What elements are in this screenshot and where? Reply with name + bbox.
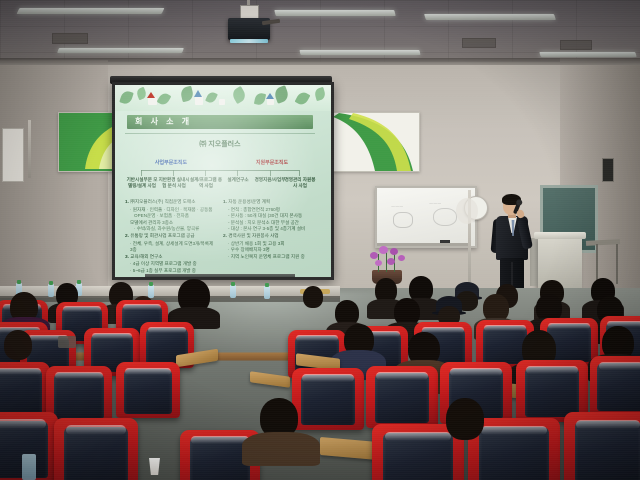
bullet-num: 1. <box>125 200 129 205</box>
org-node: 지반환경 실내시험 분석 사업 <box>157 177 191 189</box>
ceiling-light <box>274 10 395 16</box>
lectern-top <box>534 232 586 239</box>
auditorium-seat[interactable] <box>366 366 438 428</box>
bullet-num: 3. <box>125 255 129 260</box>
slide-body: ㈜ 지오플러스 사업부문조직도 지원부문조직도 기반시설부문 모델링/설계 사업… <box>125 133 315 264</box>
lecture-hall-photo: 200 우수취업 일시 2009. 수회 규전학토론 학교 환경공학과 <box>0 0 640 480</box>
orchid-flower <box>375 260 382 266</box>
audience-person <box>172 279 216 321</box>
orchid-flower <box>370 252 378 259</box>
slide-columns: 1. ㈜지오플러스(주) 직접운영 도매소 · 원자재 · 인력풀 · 디자인 … <box>125 199 315 275</box>
presenter <box>490 196 534 292</box>
auditorium-seat[interactable] <box>564 412 640 480</box>
auditorium-seat[interactable] <box>590 356 640 416</box>
slide-right-column: 1. 자동 운용성/운영 계획 - 면적 : 총합연면적 2760평 - 본사동… <box>223 199 315 275</box>
org-node: 설계/프로그램 용역 사업 <box>189 177 223 189</box>
wall-notice <box>2 128 24 182</box>
bullet-text: · 우수 장애배치자 3명 <box>223 247 315 254</box>
bullet-text: ㈜지오플러스(주) 직접운영 도매소 <box>130 199 195 204</box>
slide-house-icon <box>195 96 203 105</box>
whiteboard-scribble: ~~~ <box>391 204 403 212</box>
slide-decorative-header <box>115 85 331 111</box>
bullet-text: · 지역 노인복지 운영체 프로그램 지원 중 <box>223 254 315 261</box>
bullet-num: 2. <box>223 234 227 239</box>
ceiling-light <box>57 48 184 53</box>
bullet-text: 교육/해외 연구소 <box>130 254 162 259</box>
bullet-text: 경력사원 및 자원봉사 사업 <box>228 233 278 238</box>
orchid-flower <box>398 255 405 261</box>
screen-bottom-bar <box>145 274 295 278</box>
bullet-text: · 수박/과실, 과수원/농산물, 양곡류 <box>125 226 217 233</box>
audience-person <box>336 324 380 372</box>
ceiling-light <box>539 52 636 57</box>
slide-house-icon <box>148 97 157 105</box>
org-node: 경영지원/사업부 <box>253 177 287 183</box>
ceiling-light <box>424 14 556 20</box>
ceiling-vent <box>52 33 88 44</box>
bullet-text: · 전체, 우측, 설계, 상세설계 도면3개/목록제 3종 <box>125 241 217 254</box>
orchid-flower <box>379 246 388 254</box>
bullet-text: 유통망 및 회관사업 프로그램 공급 <box>130 233 194 238</box>
audience-person <box>250 398 310 458</box>
wall-mounted-box <box>602 158 614 182</box>
slide-org-chart: 사업부문조직도 지원부문조직도 기반시설부문 모델링/설계 사업 지반환경 실내… <box>125 159 315 193</box>
bullet-num: 1. <box>223 200 227 205</box>
slide-house-icon <box>219 99 225 105</box>
ceiling-light <box>17 8 165 14</box>
water-bottle <box>230 285 236 298</box>
orchid-flower <box>390 248 398 255</box>
whiteboard-marker <box>440 240 450 243</box>
orchid-flower <box>387 258 395 265</box>
bullet-text: - 본사동 : 50개 대실 (30건 대지 본사동 <box>223 213 315 220</box>
bullet-text: OPEN운영 · 보험품 · 전자품 <box>125 213 217 220</box>
bullet-text: · 4급 이상 지역별 프로그램 개발 중 <box>125 261 217 268</box>
audience-person <box>436 398 494 460</box>
slide-title-bar: 회 사 소 개 <box>127 115 313 129</box>
orchid-plant <box>366 244 410 278</box>
slide-left-column: 1. ㈜지오플러스(주) 직접운영 도매소 · 원자재 · 인력풀 · 디자인 … <box>125 199 217 275</box>
org-right-header: 지원부문조직도 <box>241 159 303 166</box>
ceiling-wall-edge <box>0 58 640 65</box>
org-node: 기반시설부문 모델링/설계 사업 <box>125 177 159 189</box>
org-node: 설계연구소 <box>221 177 255 183</box>
wall-fan <box>456 198 478 224</box>
water-bottle <box>22 454 36 480</box>
bullet-num: 2. <box>125 234 129 239</box>
auditorium-seat[interactable] <box>0 362 50 418</box>
ceiling-light <box>299 50 420 55</box>
audience-person <box>300 286 326 314</box>
ceiling-vent <box>560 40 592 50</box>
water-bottle <box>264 286 270 299</box>
auditorium-seat[interactable] <box>54 418 138 480</box>
slide-subtitle: ㈜ 지오플러스 <box>125 139 315 149</box>
bullet-text: - 대상 : 본사 연구 3-5층 및 4층기계 설비 <box>223 226 315 233</box>
wall-pole <box>28 120 31 178</box>
bullet-text: 자동 운용성/운영 계획 <box>228 199 270 204</box>
auditorium-seat[interactable] <box>116 362 180 418</box>
org-node: 경영관리 자원봉사 사업 <box>283 177 317 189</box>
ceiling-vent <box>462 38 496 48</box>
slide-title: 회 사 소 개 <box>127 115 313 129</box>
projection-screen: 회 사 소 개 ㈜ 지오플러스 사업부문조직도 지원부문조직도 기반시설부문 모… <box>112 82 334 280</box>
presentation-slide: 회 사 소 개 ㈜ 지오플러스 사업부문조직도 지원부문조직도 기반시설부문 모… <box>115 85 331 277</box>
bag-item <box>58 336 76 348</box>
org-left-header: 사업부문조직도 <box>143 159 199 166</box>
slide-house-icon <box>267 98 274 105</box>
